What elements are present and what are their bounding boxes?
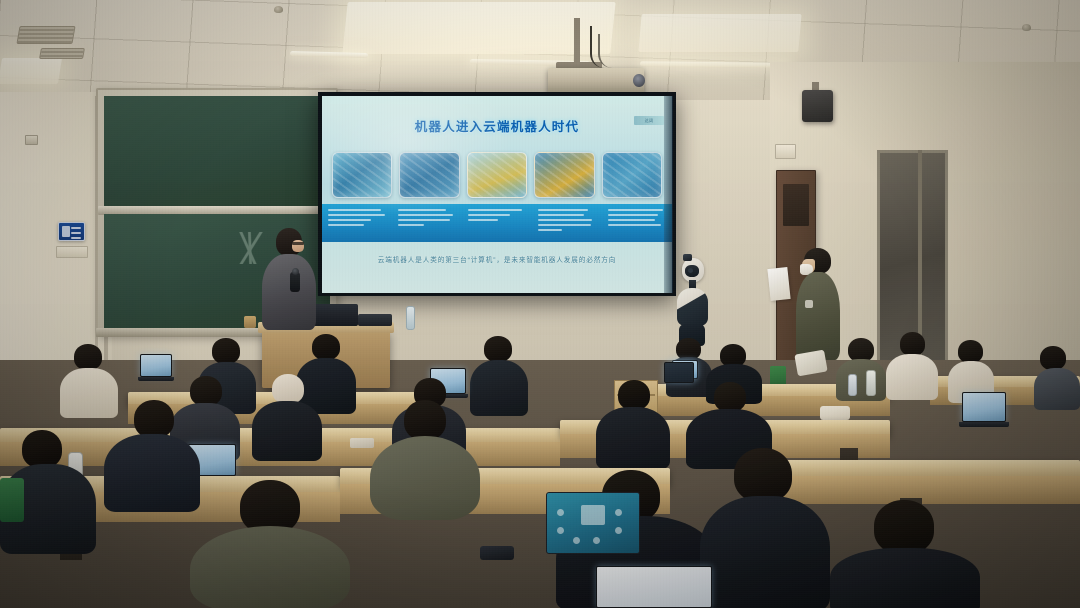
ceiling-vent <box>16 26 75 44</box>
microphone-head <box>292 268 299 275</box>
band-column <box>602 204 672 242</box>
audience-member <box>252 374 322 458</box>
lectern-equipment <box>358 314 392 326</box>
wall-speaker <box>802 90 833 122</box>
desk-box <box>244 316 256 328</box>
ceiling-light-panel <box>638 14 801 52</box>
water-bottle <box>406 306 415 330</box>
hoodie-logo <box>805 300 813 308</box>
ceiling-projector <box>548 68 644 95</box>
audience-member <box>948 340 994 398</box>
presenter-at-lectern <box>256 228 320 340</box>
projector-lens <box>633 74 645 87</box>
slide-caption: 云端机器人是人类的第三台“计算机”，是未来智能机器人发展的必然方向 <box>322 254 672 264</box>
wall-notice-sign <box>775 144 796 159</box>
audience-member <box>104 400 200 508</box>
wall-notice-plate <box>56 246 88 258</box>
water-bottle <box>866 370 876 396</box>
robot-torso <box>677 288 708 326</box>
wall-outlet <box>25 135 38 145</box>
green-bag <box>0 478 24 522</box>
sprinkler-head <box>1022 24 1031 31</box>
paper-stack <box>820 406 850 420</box>
foreground-person <box>700 448 830 608</box>
water-bottle <box>848 374 857 396</box>
smartphone[interactable] <box>480 546 514 560</box>
presenter-sweater <box>262 254 316 330</box>
door-notice-paper <box>767 267 790 301</box>
robot-eye <box>688 268 693 273</box>
audience-member <box>1034 346 1080 404</box>
audience-member <box>886 332 938 396</box>
band-column <box>532 204 602 242</box>
presenter-glasses <box>292 242 304 245</box>
foreground-person <box>190 480 350 608</box>
audience-member <box>836 338 886 396</box>
door-window <box>783 184 809 226</box>
screen-glare <box>322 96 512 216</box>
tablet-device[interactable] <box>546 492 640 554</box>
robot-sensor <box>683 254 692 261</box>
cloud-service-robot <box>672 258 712 350</box>
audience-member <box>370 400 480 516</box>
slide-logo: 达闼 <box>634 116 664 125</box>
observer-hoodie <box>796 272 840 360</box>
slide-thumbnail <box>602 152 662 198</box>
microphone <box>290 272 300 292</box>
blackboard-panel-upper <box>104 96 330 206</box>
sprinkler-head <box>274 6 283 13</box>
presentation-slide: 机器人进入云端机器人时代 达闼 <box>322 96 672 293</box>
slide-thumbnail <box>534 152 594 198</box>
ceiling-light-panel <box>0 58 62 84</box>
foreground-person <box>830 500 980 608</box>
exit-sign <box>58 222 85 241</box>
ceiling-vent <box>39 48 85 59</box>
lecture-hall-photo: 机器人进入云端机器人时代 达闼 <box>0 0 1080 608</box>
audience-member <box>596 380 670 466</box>
band-column <box>462 204 532 242</box>
